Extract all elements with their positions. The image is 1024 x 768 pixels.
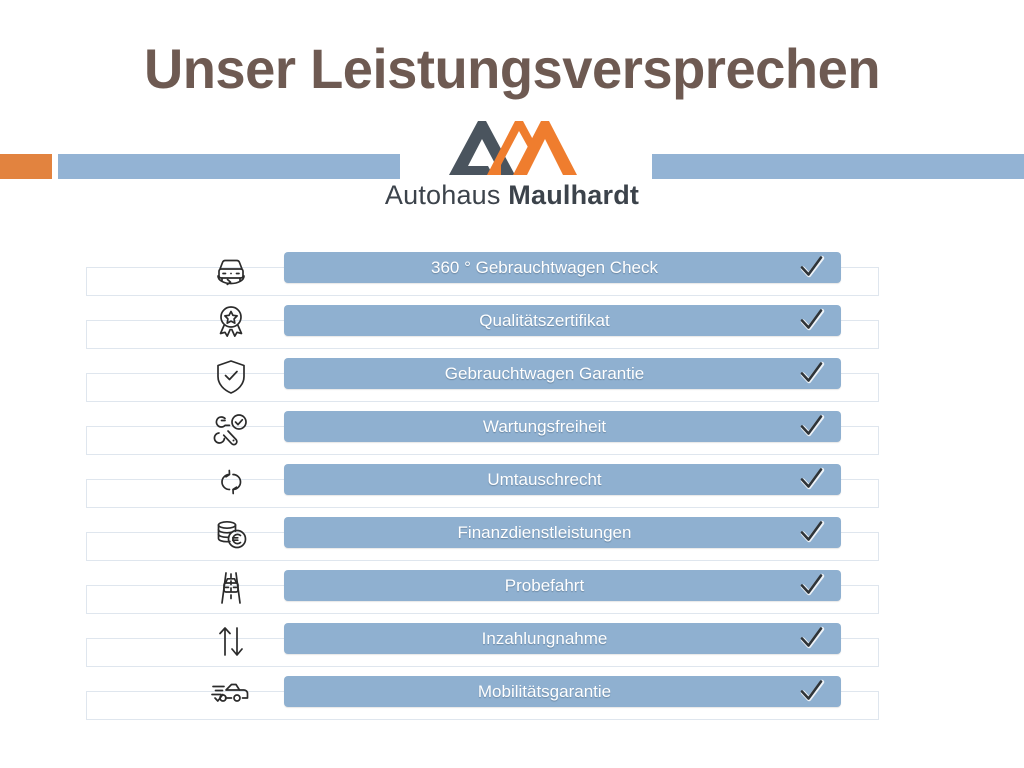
road-car-icon [205, 565, 257, 611]
exchange-arrows-icon [205, 459, 257, 505]
check-icon [799, 679, 825, 705]
promise-label: Mobilitätsgarantie [284, 676, 841, 707]
promise-list: 360 ° Gebrauchtwagen Check Qualitätszert… [0, 243, 1024, 720]
wrench-check-icon [205, 406, 257, 452]
promise-bar[interactable]: Gebrauchtwagen Garantie [284, 358, 841, 389]
promise-bar[interactable]: Qualitätszertifikat [284, 305, 841, 336]
award-rosette-icon [205, 300, 257, 346]
promise-label: Inzahlungnahme [284, 623, 841, 654]
promise-row: Gebrauchtwagen Garantie [0, 349, 1024, 402]
promise-label: 360 ° Gebrauchtwagen Check [284, 252, 841, 283]
promise-row: 360 ° Gebrauchtwagen Check [0, 243, 1024, 296]
promise-row: Finanzdienstleistungen [0, 508, 1024, 561]
promise-row: Probefahrt [0, 561, 1024, 614]
promise-bar[interactable]: Wartungsfreiheit [284, 411, 841, 442]
coins-euro-icon [205, 512, 257, 558]
page-title: Unser Leistungsversprechen [15, 36, 1008, 101]
car-360-check-icon [205, 247, 257, 293]
check-icon [799, 308, 825, 334]
promise-row: Mobilitätsgarantie [0, 667, 1024, 720]
check-icon [799, 626, 825, 652]
check-icon [799, 255, 825, 281]
check-icon [799, 361, 825, 387]
brand-word-second: Maulhardt [508, 180, 639, 210]
shield-check-icon [205, 353, 257, 399]
promise-row: Qualitätszertifikat [0, 296, 1024, 349]
promise-bar[interactable]: Probefahrt [284, 570, 841, 601]
brand-wordmark: Autohaus Maulhardt [0, 180, 1024, 211]
promise-label: Finanzdienstleistungen [284, 517, 841, 548]
promise-bar[interactable]: Inzahlungnahme [284, 623, 841, 654]
brand-word-first: Autohaus [385, 180, 508, 210]
promise-label: Probefahrt [284, 570, 841, 601]
check-icon [799, 467, 825, 493]
promise-bar[interactable]: Finanzdienstleistungen [284, 517, 841, 548]
brand-logo: Autohaus Maulhardt [0, 113, 1024, 211]
promise-label: Qualitätszertifikat [284, 305, 841, 336]
promise-label: Umtauschrecht [284, 464, 841, 495]
check-icon [799, 520, 825, 546]
check-icon [799, 573, 825, 599]
promise-bar[interactable]: Umtauschrecht [284, 464, 841, 495]
promise-label: Wartungsfreiheit [284, 411, 841, 442]
promise-row: Umtauschrecht [0, 455, 1024, 508]
promise-row: Inzahlungnahme [0, 614, 1024, 667]
car-speed-icon [205, 671, 257, 717]
up-down-arrows-icon [205, 618, 257, 664]
promise-bar[interactable]: 360 ° Gebrauchtwagen Check [284, 252, 841, 283]
am-monogram-icon [441, 113, 583, 175]
promise-bar[interactable]: Mobilitätsgarantie [284, 676, 841, 707]
promise-row: Wartungsfreiheit [0, 402, 1024, 455]
promise-label: Gebrauchtwagen Garantie [284, 358, 841, 389]
check-icon [799, 414, 825, 440]
